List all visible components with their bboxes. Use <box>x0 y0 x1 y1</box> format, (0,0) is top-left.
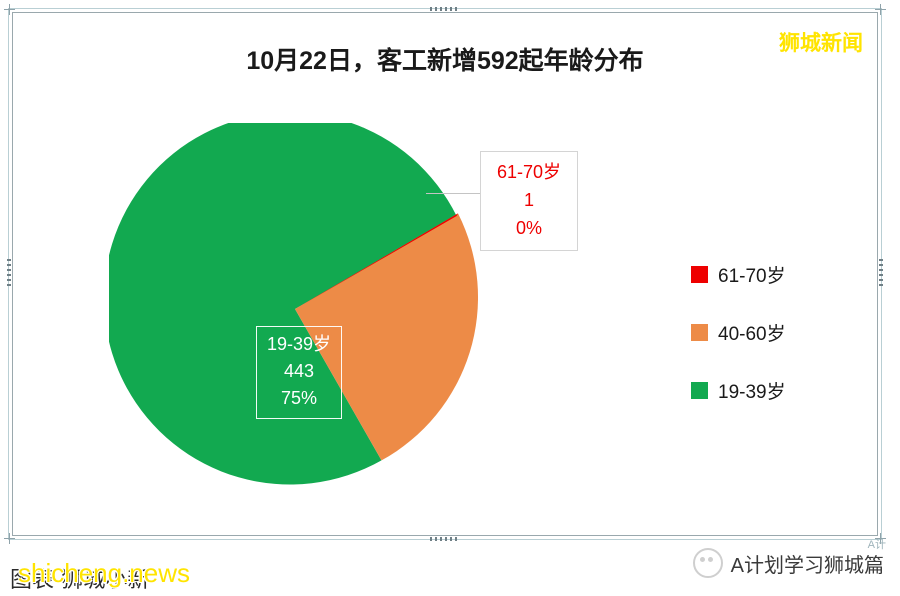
resize-handle-mid-left[interactable] <box>7 259 11 289</box>
data-label-40-60-percent: 25% <box>468 447 532 474</box>
resize-handle-top-center[interactable] <box>430 7 460 11</box>
data-label-40-60: 40-60岁 148 25% <box>457 388 543 481</box>
chart-legend: 61-70岁 40-60岁 19-39岁 <box>691 245 786 419</box>
resize-handle-top-right[interactable] <box>875 4 886 15</box>
callout-leader-line <box>426 193 482 194</box>
chart-object-frame[interactable]: 10月22日，客工新增592起年龄分布 19-39岁 443 75% 40-60… <box>8 8 882 540</box>
watermark-shicheng-news: 狮城新闻 <box>779 27 863 57</box>
data-label-61-70-value: 1 <box>497 186 561 214</box>
pie-chart[interactable]: 19-39岁 443 75% 40-60岁 148 25% <box>109 123 481 495</box>
resize-handle-top-left[interactable] <box>4 4 15 15</box>
legend-label-19-39: 19-39岁 <box>718 377 786 404</box>
data-label-61-70-name: 61-70岁 <box>497 158 561 186</box>
legend-swatch-19-39 <box>691 382 708 399</box>
data-label-19-39-name: 19-39岁 <box>267 331 331 358</box>
legend-item-61-70[interactable]: 61-70岁 <box>691 245 786 303</box>
data-label-19-39: 19-39岁 443 75% <box>256 326 342 419</box>
resize-handle-bottom-center[interactable] <box>430 537 460 541</box>
data-label-40-60-value: 148 <box>468 420 532 447</box>
footer-right-brand: A计划学习狮城篇 A计 <box>693 548 884 578</box>
pie-chart-svg <box>109 123 481 495</box>
data-label-19-39-percent: 75% <box>267 385 331 412</box>
resize-handle-bottom-left[interactable] <box>4 533 15 544</box>
footer-left-watermark: 图表·狮城小新 shicheng.news <box>6 556 336 592</box>
legend-swatch-40-60 <box>691 324 708 341</box>
data-label-61-70: 61-70岁 1 0% <box>480 151 578 251</box>
data-label-40-60-name: 40-60岁 <box>468 393 532 420</box>
footer-site-url: shicheng.news <box>18 558 190 589</box>
chart-title: 10月22日，客工新增592起年龄分布 <box>13 41 877 77</box>
legend-label-40-60: 40-60岁 <box>718 319 786 346</box>
legend-item-19-39[interactable]: 19-39岁 <box>691 361 786 419</box>
legend-item-40-60[interactable]: 40-60岁 <box>691 303 786 361</box>
data-label-19-39-value: 443 <box>267 358 331 385</box>
chart-plot-area: 10月22日，客工新增592起年龄分布 19-39岁 443 75% 40-60… <box>12 12 878 536</box>
legend-swatch-61-70 <box>691 266 708 283</box>
footer-corner-mark: A计 <box>868 536 886 552</box>
resize-handle-mid-right[interactable] <box>879 259 883 289</box>
brand-logo-icon <box>693 548 723 578</box>
data-label-61-70-percent: 0% <box>497 214 561 242</box>
footer-brand-text: A计划学习狮城篇 <box>731 549 884 578</box>
legend-label-61-70: 61-70岁 <box>718 261 786 288</box>
